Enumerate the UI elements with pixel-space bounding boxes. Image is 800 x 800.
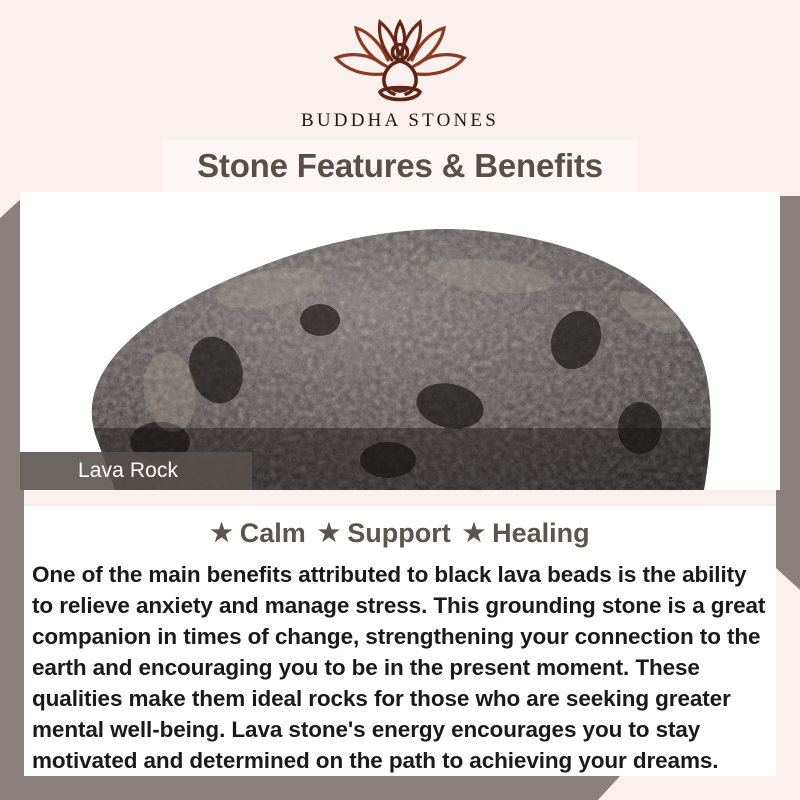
body-content: ★ Calm ★ Support ★ Healing One of the ma… xyxy=(24,506,776,776)
description-paragraph: One of the main benefits attributed to b… xyxy=(32,559,768,776)
lava-rock-photo xyxy=(20,192,780,490)
star-icon: ★ xyxy=(318,521,340,546)
page-title: Stone Features & Benefits xyxy=(197,147,603,185)
frame-segment-bottom xyxy=(0,776,620,800)
infographic-card: BUDDHA STONES Stone Features & Benefits xyxy=(0,0,800,800)
benefit-label-healing: Healing xyxy=(492,518,590,549)
benefit-label-calm: Calm xyxy=(240,518,306,549)
photo-caption-label: Lava Rock xyxy=(20,459,178,483)
lotus-meditation-figure-icon xyxy=(320,18,480,106)
title-banner: Stone Features & Benefits xyxy=(162,140,638,192)
star-icon: ★ xyxy=(210,521,232,546)
benefit-label-support: Support xyxy=(347,518,450,549)
benefit-item-healing: ★ Healing xyxy=(463,518,590,549)
brand-logo: BUDDHA STONES xyxy=(0,18,800,132)
benefit-item-support: ★ Support xyxy=(318,518,451,549)
lava-rock-illustration xyxy=(20,192,780,490)
photo-caption-bar: Lava Rock xyxy=(20,452,252,490)
benefit-item-calm: ★ Calm xyxy=(210,518,305,549)
benefits-row: ★ Calm ★ Support ★ Healing xyxy=(24,506,776,549)
star-icon: ★ xyxy=(463,521,485,546)
brand-wordmark: BUDDHA STONES xyxy=(0,110,800,132)
divider-strip xyxy=(24,490,776,506)
